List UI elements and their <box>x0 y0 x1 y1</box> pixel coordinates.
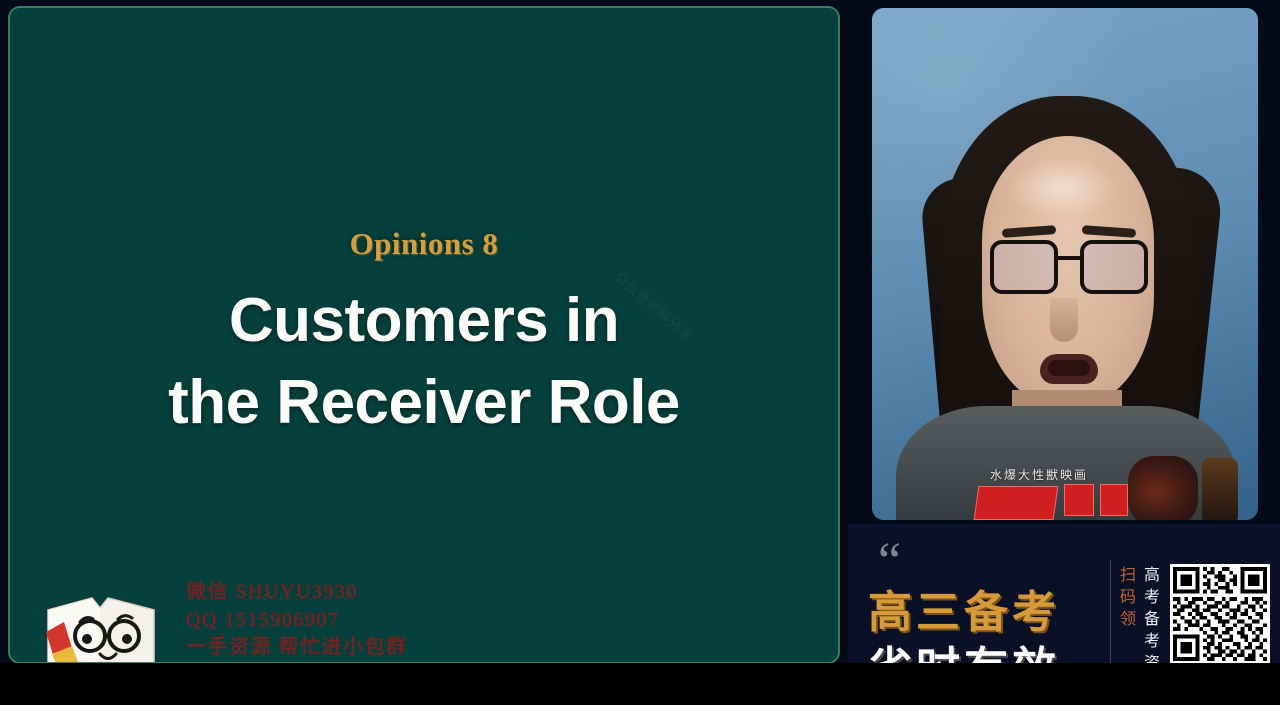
watermark-line-note: 一手资源 帮忙进小包群 <box>186 634 408 662</box>
instructor-webcam[interactable]: 水爆大性獣映画 <box>872 8 1258 520</box>
tshirt-graphic-monster <box>1128 456 1198 520</box>
scan-cta-text: 扫码领 <box>1118 566 1134 632</box>
slide-surface: Opinions 8 Customers in the Receiver Rol… <box>10 8 838 662</box>
mouth <box>1040 354 1098 384</box>
slide-title-line-2: the Receiver Role <box>10 362 838 444</box>
forehead-highlight <box>1007 158 1117 218</box>
tshirt-text: 水爆大性獣映画 <box>990 466 1088 483</box>
screen-root: Opinions 8 Customers in the Receiver Rol… <box>0 0 1280 705</box>
lens-left <box>990 240 1058 294</box>
slide-kicker: Opinions 8 <box>10 226 838 262</box>
nose <box>1050 298 1078 342</box>
qr-code[interactable] <box>1170 564 1270 664</box>
bottom-letterbox-bar <box>0 663 1280 705</box>
slide-title: Customers in the Receiver Role <box>10 280 838 445</box>
lens-right <box>1080 240 1148 294</box>
contact-watermark: 微信 SHUYU3930 QQ 1515906907 一手资源 帮忙进小包群 <box>186 579 408 662</box>
watermark-line-wechat: 微信 SHUYU3930 <box>186 579 408 607</box>
mouth-interior <box>1048 360 1090 376</box>
promo-headline-gold: 高三备考 <box>868 576 1060 640</box>
slide-title-line-1: Customers in <box>10 280 838 362</box>
tshirt-graphic-red-c <box>1100 484 1128 516</box>
watermark-line-qq: QQ 1515906907 <box>186 607 408 635</box>
glasses-bridge <box>1056 256 1082 260</box>
tshirt-graphic-red-b <box>1064 484 1094 516</box>
scan-subject-text: 高考备考资 <box>1142 566 1158 676</box>
glasses-icon <box>990 240 1148 296</box>
presentation-slide[interactable]: Opinions 8 Customers in the Receiver Rol… <box>8 6 840 664</box>
tshirt-graphic-badge <box>1202 458 1238 520</box>
book-mascot-icon <box>42 592 160 664</box>
tshirt-graphic-red-a <box>974 486 1059 520</box>
